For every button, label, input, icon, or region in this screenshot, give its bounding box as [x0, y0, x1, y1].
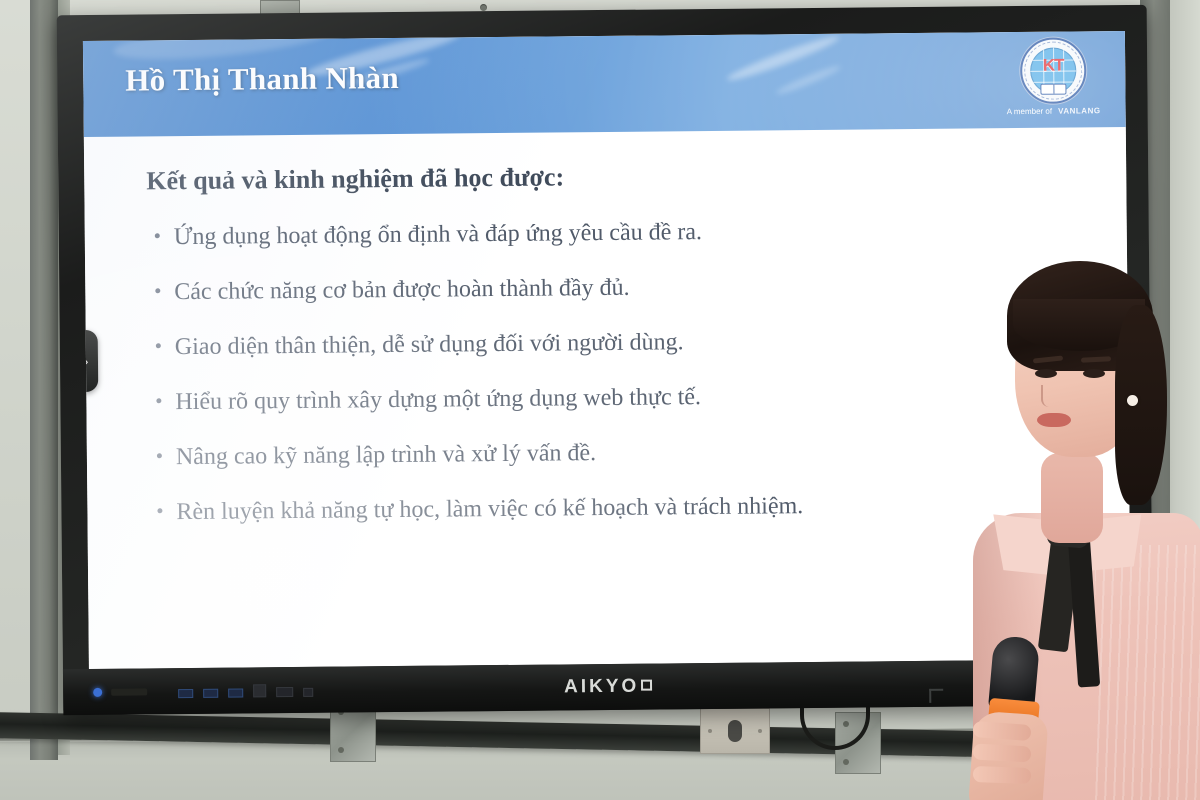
bezel-corner-mark-left — [929, 689, 943, 703]
slide-heading: Kết quả và kinh nghiệm đã học được: — [146, 162, 564, 196]
bullet-text: Nâng cao kỹ năng lập trình và xử lý vấn … — [176, 440, 596, 471]
earring — [1127, 395, 1138, 406]
logo-monogram: KT — [1043, 56, 1064, 76]
sidebar-toggle-tab[interactable]: › — [83, 330, 98, 392]
wall-outlet — [700, 708, 770, 754]
logo-member-line: A member of VANLANG — [1008, 106, 1100, 116]
bullet-dot-icon — [156, 398, 161, 403]
usb-port-2[interactable] — [203, 688, 218, 697]
bullet-text: Ứng dụng hoạt động ổn định và đáp ứng yê… — [174, 219, 702, 251]
member-prefix-text: A member of — [1007, 107, 1052, 116]
brand-square-icon — [641, 680, 652, 691]
usb-port-3[interactable] — [228, 688, 243, 697]
nose — [1041, 385, 1055, 407]
bullet-text: Các chức năng cơ bản được hoàn thành đầy… — [174, 275, 629, 306]
display-brand-logo: AIKYO — [564, 676, 652, 699]
bullet-dot-icon — [155, 233, 160, 238]
eye-right — [1083, 369, 1105, 378]
chevron-right-icon: › — [84, 353, 89, 369]
bullet-dot-icon — [155, 288, 160, 293]
list-item: Các chức năng cơ bản được hoàn thành đầy… — [155, 270, 1087, 306]
usb-port-1[interactable] — [178, 688, 193, 697]
touch-usb-port[interactable] — [253, 684, 266, 697]
bullet-text: Giao diện thân thiện, dễ sử dụng đối với… — [175, 329, 684, 361]
hdmi-port[interactable] — [276, 687, 293, 697]
list-item: Ứng dụng hoạt động ổn định và đáp ứng yê… — [155, 215, 1087, 251]
outlet-screw-left — [708, 729, 712, 733]
blouse-texture — [1095, 545, 1200, 800]
list-item: Nâng cao kỹ năng lập trình và xử lý vấn … — [157, 435, 1089, 471]
slide-title-banner: Hồ Thị Thanh Nhàn — [83, 31, 1126, 137]
outlet-screw-right — [758, 729, 762, 733]
wall-post-left — [30, 0, 58, 760]
lips — [1037, 413, 1071, 427]
presenter-person — [955, 245, 1200, 800]
list-item: Rèn luyện khả năng tự học, làm việc có k… — [157, 490, 1089, 526]
outlet-socket — [728, 720, 742, 742]
wall-screw-1 — [480, 4, 487, 11]
bullet-text: Rèn luyện khả năng tự học, làm việc có k… — [176, 493, 803, 526]
bullet-dot-icon — [156, 343, 161, 348]
slide-bullet-list: Ứng dụng hoạt động ổn định và đáp ứng yê… — [155, 215, 1090, 554]
bullet-text: Hiểu rõ quy trình xây dựng một ứng dụng … — [175, 384, 701, 416]
brand-text: AIKYO — [564, 676, 639, 698]
book-icon — [1040, 84, 1066, 95]
hair-side — [1115, 305, 1167, 505]
slide-title: Hồ Thị Thanh Nhàn — [125, 60, 399, 99]
ir-receiver — [111, 688, 147, 695]
bullet-dot-icon — [157, 453, 162, 458]
finger-3 — [973, 766, 1032, 784]
bullet-dot-icon — [157, 508, 162, 513]
university-logo: KT A member of VANLANG — [1007, 37, 1100, 116]
eye-left — [1035, 369, 1057, 378]
finger-2 — [973, 743, 1032, 762]
logo-seal: KT — [1020, 37, 1087, 104]
power-led-indicator — [93, 687, 102, 696]
neck — [1041, 453, 1103, 543]
aux-port[interactable] — [303, 687, 313, 696]
port-panel — [178, 683, 313, 697]
member-brand-text: VANLANG — [1058, 106, 1101, 115]
list-item: Hiểu rõ quy trình xây dựng một ứng dụng … — [156, 380, 1088, 416]
list-item: Giao diện thân thiện, dễ sử dụng đối với… — [156, 325, 1088, 361]
cloud-wisp-4 — [774, 63, 842, 97]
